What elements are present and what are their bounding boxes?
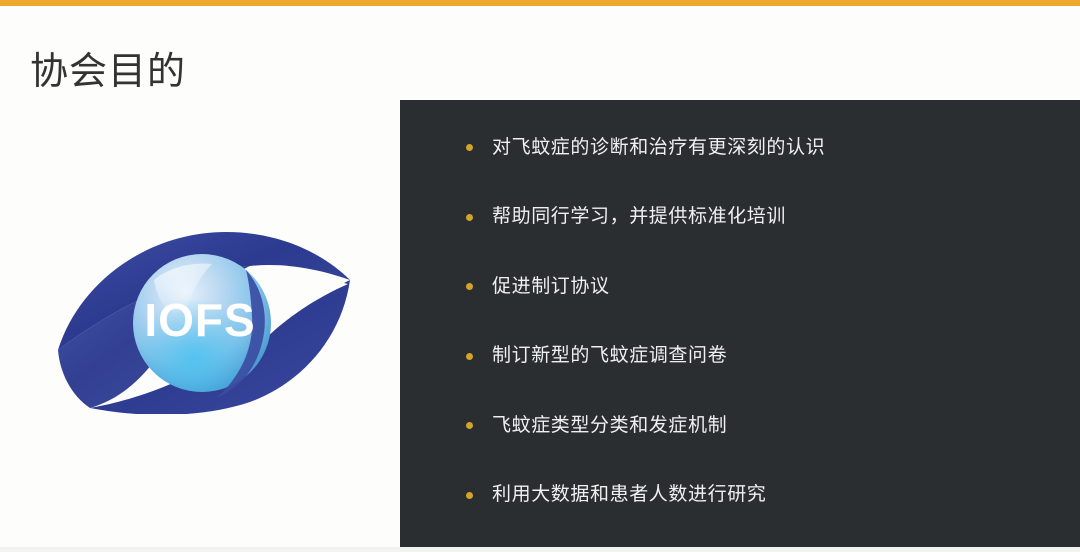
list-item-label: 促进制订协议 [492, 274, 610, 300]
bullet-dot-icon [466, 492, 473, 499]
bullet-dot-icon [466, 283, 473, 290]
list-item-label: 对飞蚊症的诊断和治疗有更深刻的认识 [492, 135, 825, 161]
bullet-dot-icon [466, 422, 473, 429]
top-accent-rule [0, 0, 1080, 6]
list-item: 对飞蚊症的诊断和治疗有更深刻的认识 [466, 113, 1066, 183]
list-item: 帮助同行学习，并提供标准化培训 [466, 183, 1066, 253]
bullet-list: 对飞蚊症的诊断和治疗有更深刻的认识 帮助同行学习，并提供标准化培训 促进制订协议… [466, 113, 1066, 533]
list-item: 利用大数据和患者人数进行研究 [466, 461, 1066, 531]
bullet-dot-icon [466, 144, 473, 151]
slide-canvas: 协会目的 [0, 0, 1080, 552]
list-item-label: 利用大数据和患者人数进行研究 [492, 482, 766, 508]
list-item-label: 飞蚊症类型分类和发症机制 [492, 413, 727, 439]
list-item-label: 帮助同行学习，并提供标准化培训 [492, 204, 786, 230]
bullet-dot-icon [466, 214, 473, 221]
bullet-dot-icon [466, 353, 473, 360]
list-item-label: 制订新型的飞蚊症调查问卷 [492, 343, 727, 369]
list-item: 制订新型的飞蚊症调查问卷 [466, 322, 1066, 392]
list-item: 飞蚊症类型分类和发症机制 [466, 391, 1066, 461]
bottom-strip [0, 547, 1080, 552]
list-item: 促进制订协议 [466, 252, 1066, 322]
iofs-logo: IOFS [50, 218, 360, 414]
page-title: 协会目的 [30, 48, 186, 96]
logo-wordmark: IOFS [144, 294, 255, 346]
